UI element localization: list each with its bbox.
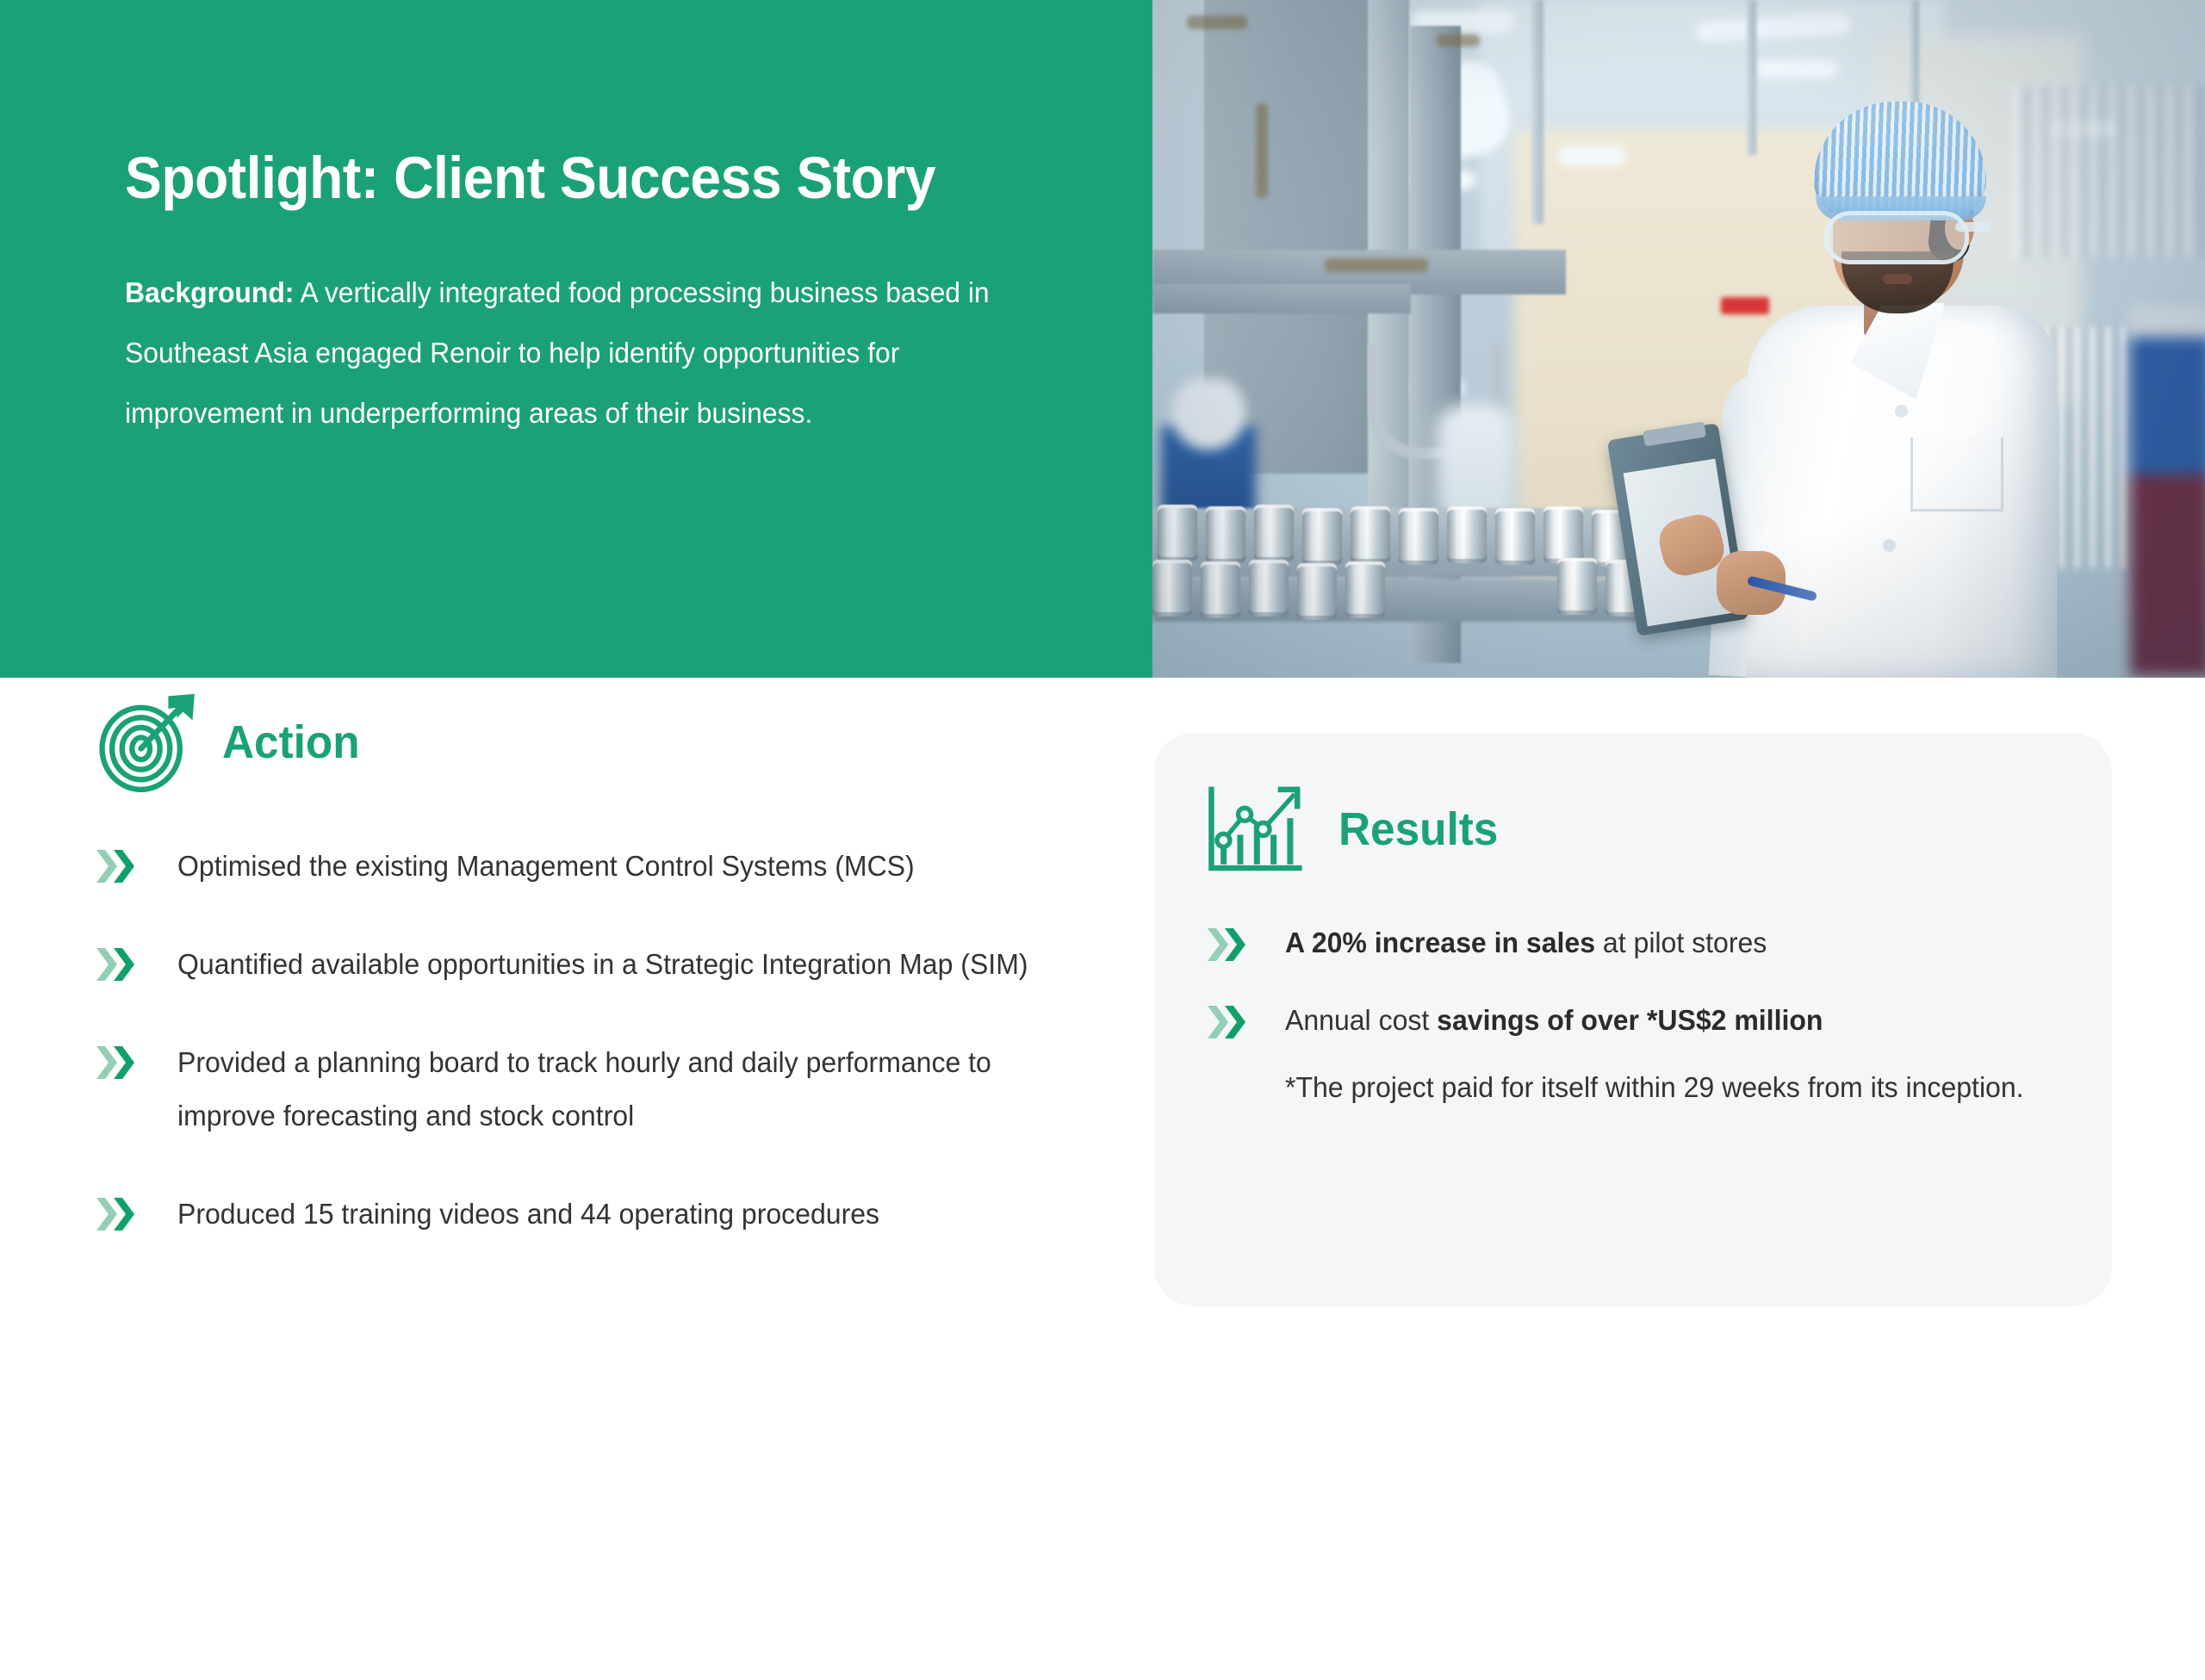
factory-worker-photo	[1152, 0, 2205, 678]
list-item: Optimised the existing Management Contro…	[95, 840, 1111, 893]
photo-vignette	[1152, 0, 2205, 678]
action-title: Action	[222, 719, 360, 766]
list-item-label: Optimised the existing Management Contro…	[177, 840, 915, 893]
background-paragraph: Background: A vertically integrated food…	[125, 263, 991, 443]
page-title: Spotlight: Client Success Story	[125, 148, 960, 208]
bar-chart-growth-icon	[1206, 783, 1307, 876]
list-item-label: Produced 15 training videos and 44 opera…	[177, 1187, 879, 1241]
result-lead: Annual cost	[1285, 1004, 1437, 1036]
target-arrow-icon	[95, 690, 200, 795]
results-footnote: *The project paid for itself within 29 w…	[1285, 1065, 2037, 1110]
double-chevron-icon	[1206, 926, 1247, 964]
double-chevron-icon	[1206, 1003, 1247, 1041]
results-header: Results	[1206, 769, 2060, 890]
action-header: Action	[95, 678, 1111, 807]
action-section: Action Optimised the existing Management…	[95, 678, 1111, 1286]
list-item: Annual cost savings of over *US$2 millio…	[1206, 998, 2060, 1043]
double-chevron-icon	[95, 1195, 136, 1233]
list-item: A 20% increase in sales at pilot stores	[1206, 921, 2060, 965]
action-bullet-list: Optimised the existing Management Contro…	[95, 840, 1111, 1241]
results-bullet-list: A 20% increase in sales at pilot stores …	[1206, 921, 2060, 1110]
hero-banner: Spotlight: Client Success Story Backgrou…	[0, 0, 2205, 678]
results-title: Results	[1339, 806, 1498, 852]
double-chevron-icon	[95, 945, 136, 983]
hero-text-panel: Spotlight: Client Success Story Backgrou…	[0, 0, 1152, 678]
result-highlight: A 20% increase in sales	[1285, 927, 1595, 958]
list-item-label: A 20% increase in sales at pilot stores	[1285, 921, 1767, 965]
list-item: Provided a planning board to track hourl…	[95, 1036, 1111, 1143]
list-item-label: Quantified available opportunities in a …	[177, 938, 1028, 991]
list-item-label: Annual cost savings of over *US$2 millio…	[1285, 998, 1823, 1043]
content-area: Action Optimised the existing Management…	[0, 678, 2205, 1680]
double-chevron-icon	[95, 847, 136, 885]
result-highlight: savings of over *US$2 million	[1437, 1004, 1823, 1036]
double-chevron-icon	[95, 1044, 136, 1082]
results-card: Results A 20% increase in sales at pilot…	[1154, 733, 2112, 1306]
list-item: Quantified available opportunities in a …	[95, 938, 1111, 991]
background-label: Background:	[125, 276, 294, 308]
list-item-label: Provided a planning board to track hourl…	[177, 1036, 1038, 1143]
result-rest: at pilot stores	[1595, 927, 1767, 958]
list-item: Produced 15 training videos and 44 opera…	[95, 1187, 1111, 1241]
